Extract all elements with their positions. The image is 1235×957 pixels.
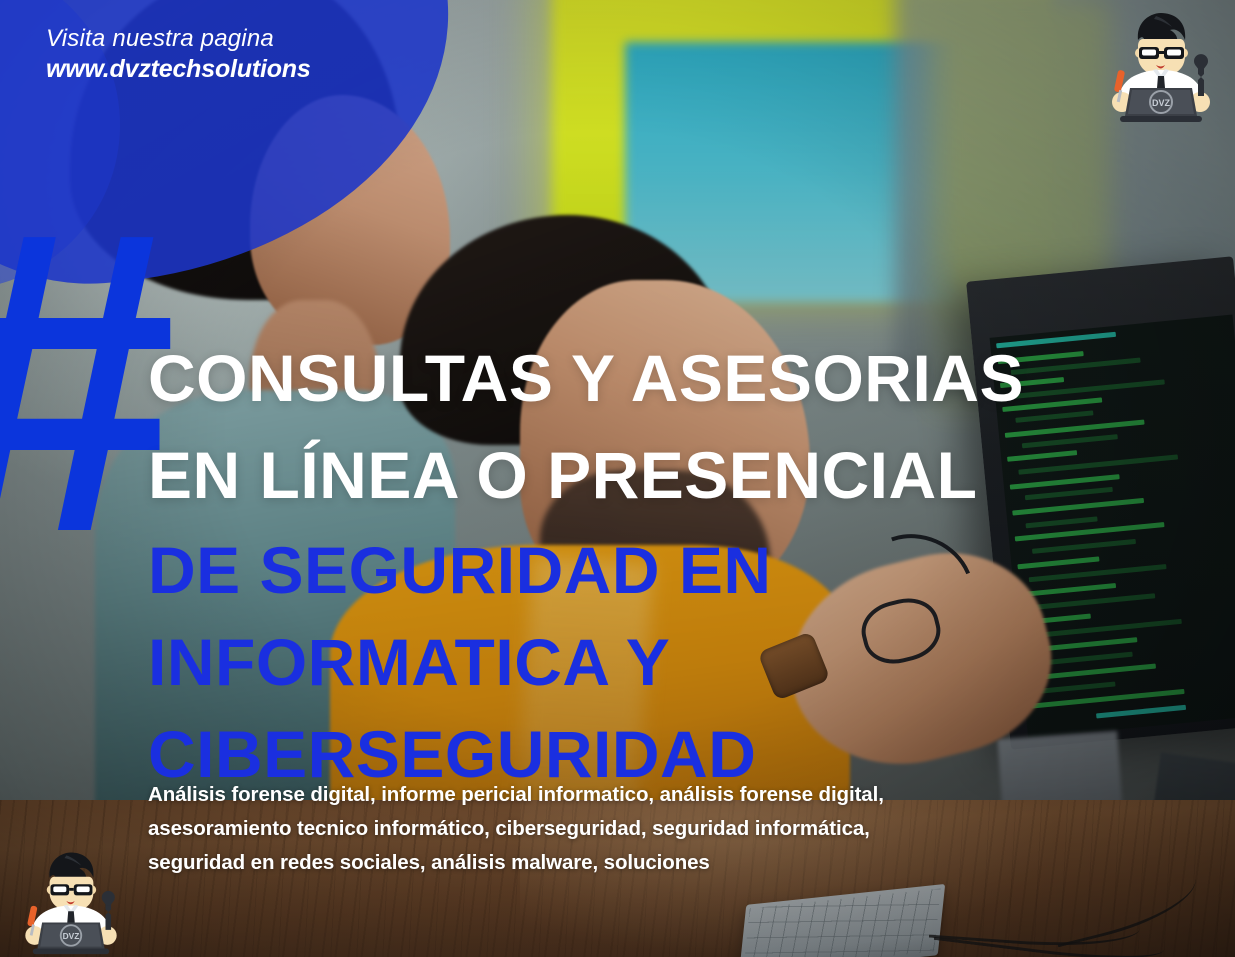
brand-logo-bottom-left: DVZ	[8, 846, 134, 956]
headline-white-line-2: EN LÍNEA O PRESENCIAL	[148, 427, 1158, 524]
headline-blue-line-1: DE SEGURIDAD EN	[148, 524, 1158, 616]
services-description: Análisis forense digital, informe perici…	[148, 778, 948, 880]
laptop-brand-mark: DVZ	[1152, 98, 1171, 108]
headline-block: CONSULTAS Y ASESORIAS EN LÍNEA O PRESENC…	[148, 330, 1158, 800]
laptop-brand-mark: DVZ	[63, 931, 80, 941]
mascot-technician-icon: DVZ	[8, 846, 134, 956]
headline-blue-line-2: INFORMATICA Y	[148, 616, 1158, 708]
visit-invite-text: Visita nuestra pagina	[46, 24, 606, 54]
promotional-poster: # Visita nuestra pagina www.dvztechsolut…	[0, 0, 1235, 957]
website-banner: Visita nuestra pagina www.dvztechsolutio…	[46, 24, 606, 85]
website-url[interactable]: www.dvztechsolutions	[46, 54, 606, 85]
headline-white-line-1: CONSULTAS Y ASESORIAS	[148, 330, 1158, 427]
brand-logo-top-right: DVZ	[1098, 6, 1224, 124]
mascot-technician-icon: DVZ	[1098, 6, 1224, 124]
